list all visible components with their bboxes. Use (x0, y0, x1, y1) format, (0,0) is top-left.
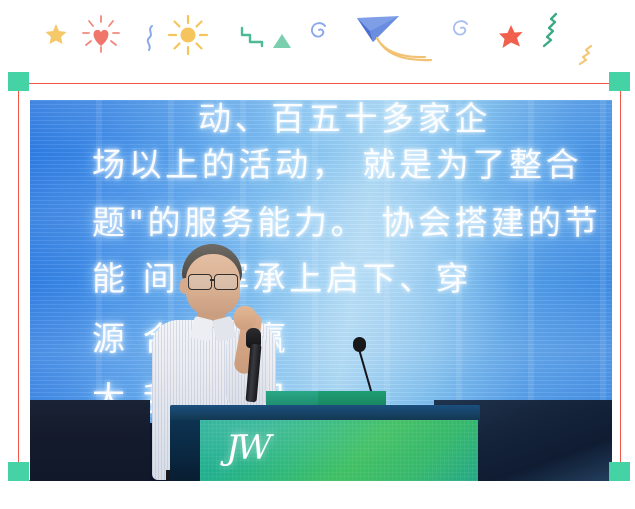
frame-corner-bottom-left (8, 462, 29, 481)
decorative-doodle-strip (0, 0, 635, 78)
podium-slogan-line-1: 节在实处 (208, 475, 310, 481)
zigzag-doodle-green-icon (240, 26, 266, 48)
speaker-glasses-left-lens (188, 274, 212, 290)
speaker-glasses-bridge (210, 279, 215, 281)
sun-doodle-yellow-icon (167, 14, 209, 56)
spiral-doodle-blue-icon (308, 20, 332, 46)
conference-photo: 动、百五十多家企 场以上的活动， 就是为了整合 题"的服务能力。 协会搭建的节 … (30, 100, 612, 481)
frame-corner-bottom-right (609, 462, 630, 481)
podium-microphone-head (353, 337, 366, 352)
squiggle-doodle-blue-icon (144, 24, 158, 52)
plane-trail-doodle-icon (375, 36, 439, 64)
zigzag-doodle-yellow-icon (572, 44, 594, 66)
podium-script-logo: JW (226, 428, 269, 468)
led-screen-text-line-1: 动、百五十多家企 (198, 100, 491, 140)
podium-left-side (170, 420, 202, 481)
heart-burst-doodle-icon (80, 14, 122, 56)
zigzag-doodle-green-2-icon (538, 12, 560, 48)
star-doodle-red-icon (498, 24, 524, 50)
triangle-doodle-green-icon (272, 33, 292, 49)
led-screen-text-line-2: 场以上的活动， 就是为了整合 (92, 138, 582, 186)
speaker-glasses-right-lens (214, 274, 238, 290)
star-doodle-yellow-icon (44, 22, 68, 46)
spiral-doodle-blue-2-icon (450, 18, 474, 44)
frame-corner-top-left (8, 72, 29, 91)
speaker-hand (234, 306, 256, 330)
frame-corner-top-right (609, 72, 630, 91)
podium (170, 405, 480, 481)
